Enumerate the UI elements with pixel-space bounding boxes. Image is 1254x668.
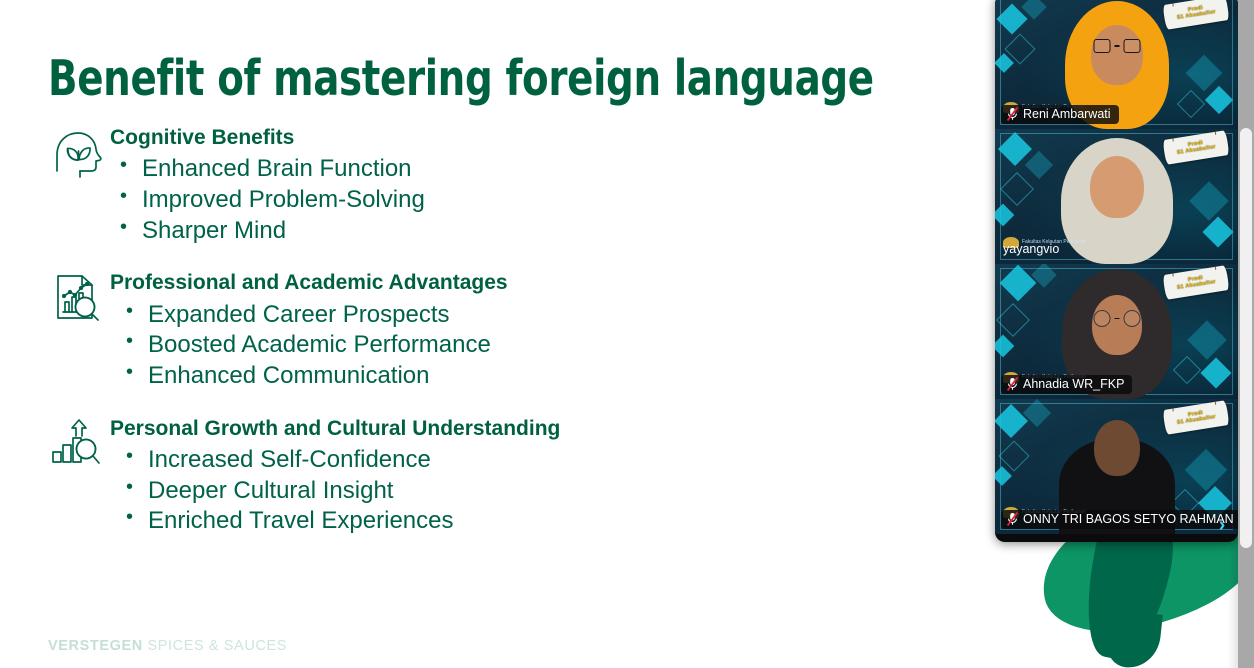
video-tile[interactable]: Prodi S1 Akuakultur Fakultas Kelautan Pe…	[995, 129, 1238, 264]
video-tile[interactable]: Prodi S1 Akuakultur Fakultas Kelautan Pe…	[995, 264, 1238, 399]
eyeglasses	[1093, 310, 1140, 327]
video-participant-panel[interactable]: Prodi S1 Akuakultur Fakultas Kelautan Pe…	[995, 0, 1238, 542]
microphone-muted-icon	[1007, 377, 1018, 391]
list-item: Improved Problem-Solving	[114, 185, 948, 216]
slide-footer: VERSTEGEN SPICES & SAUCES	[48, 638, 287, 654]
section-personal-growth-cultural-understanding: Personal Growth and Cultural Understandi…	[48, 416, 948, 537]
section-heading: Personal Growth and Cultural Understandi…	[110, 416, 948, 441]
head-with-leaves-icon	[48, 127, 106, 179]
bullet-list: Enhanced Brain Function Improved Problem…	[110, 154, 948, 246]
section-professional-academic-advantages: Professional and Academic Advantages Exp…	[48, 270, 948, 391]
list-item: Sharper Mind	[114, 216, 948, 247]
participant-name-label: ONNY TRI BAGOS SETYO RAHMAN	[1001, 510, 1238, 529]
list-item: Enhanced Brain Function	[114, 154, 948, 185]
growth-bars-arrow-magnifier-icon	[48, 418, 106, 470]
video-tile[interactable]: Prodi S1 Akuakultur Fakultas Kelautan Pe…	[995, 0, 1238, 129]
participant-name-label: yayangvio	[1001, 240, 1067, 259]
chevron-right-icon[interactable]: ›	[1212, 514, 1232, 536]
section-body: Personal Growth and Cultural Understandi…	[48, 416, 948, 537]
microphone-muted-icon	[1007, 107, 1018, 121]
list-item: Boosted Academic Performance	[120, 330, 948, 361]
section-body: Cognitive Benefits Enhanced Brain Functi…	[48, 125, 948, 246]
list-item: Expanded Career Prospects	[120, 300, 948, 331]
microphone-muted-icon	[1007, 512, 1018, 526]
list-item: Enhanced Communication	[120, 361, 948, 392]
section-cognitive-benefits: Cognitive Benefits Enhanced Brain Functi…	[48, 125, 948, 246]
list-item: Deeper Cultural Insight	[120, 476, 948, 507]
participant-name-label: Reni Ambarwati	[1001, 105, 1119, 124]
video-tile[interactable]: Prodi S1 Akuakultur Fakultas Kelautan Pe…	[995, 399, 1238, 534]
list-item: Enriched Travel Experiences	[120, 506, 948, 537]
footer-tagline: SPICES & SAUCES	[143, 638, 287, 654]
footer-brand: VERSTEGEN	[48, 638, 143, 654]
banner-line-2: S1 Akuakultur	[1177, 414, 1217, 426]
eyeglasses	[1093, 39, 1140, 53]
participant-name-label: Ahnadia WR_FKP	[1001, 375, 1132, 394]
decorative-green-blob-tail	[1105, 609, 1163, 668]
page-title: Benefit of mastering foreign language	[48, 50, 874, 107]
slide-content: Cognitive Benefits Enhanced Brain Functi…	[48, 125, 948, 561]
banner-line-2: S1 Akuakultur	[1177, 144, 1217, 156]
bullet-list: Expanded Career Prospects Boosted Academ…	[110, 300, 948, 392]
participant-name: ONNY TRI BAGOS SETYO RAHMAN	[1023, 512, 1234, 526]
section-heading: Cognitive Benefits	[110, 125, 948, 150]
document-chart-magnifier-icon	[48, 272, 106, 324]
list-item: Increased Self-Confidence	[120, 445, 948, 476]
bullet-list: Increased Self-Confidence Deeper Cultura…	[110, 445, 948, 537]
participant-name: Ahnadia WR_FKP	[1023, 377, 1124, 391]
banner-line-2: S1 Akuakultur	[1177, 9, 1217, 21]
section-body: Professional and Academic Advantages Exp…	[48, 270, 948, 391]
scrollbar-thumb[interactable]	[1240, 128, 1252, 548]
participant-name: Reni Ambarwati	[1023, 107, 1111, 121]
vertical-scrollbar[interactable]	[1238, 0, 1254, 668]
banner-line-2: S1 Akuakultur	[1177, 279, 1217, 291]
section-heading: Professional and Academic Advantages	[110, 270, 948, 295]
participant-name: yayangvio	[1003, 242, 1059, 256]
